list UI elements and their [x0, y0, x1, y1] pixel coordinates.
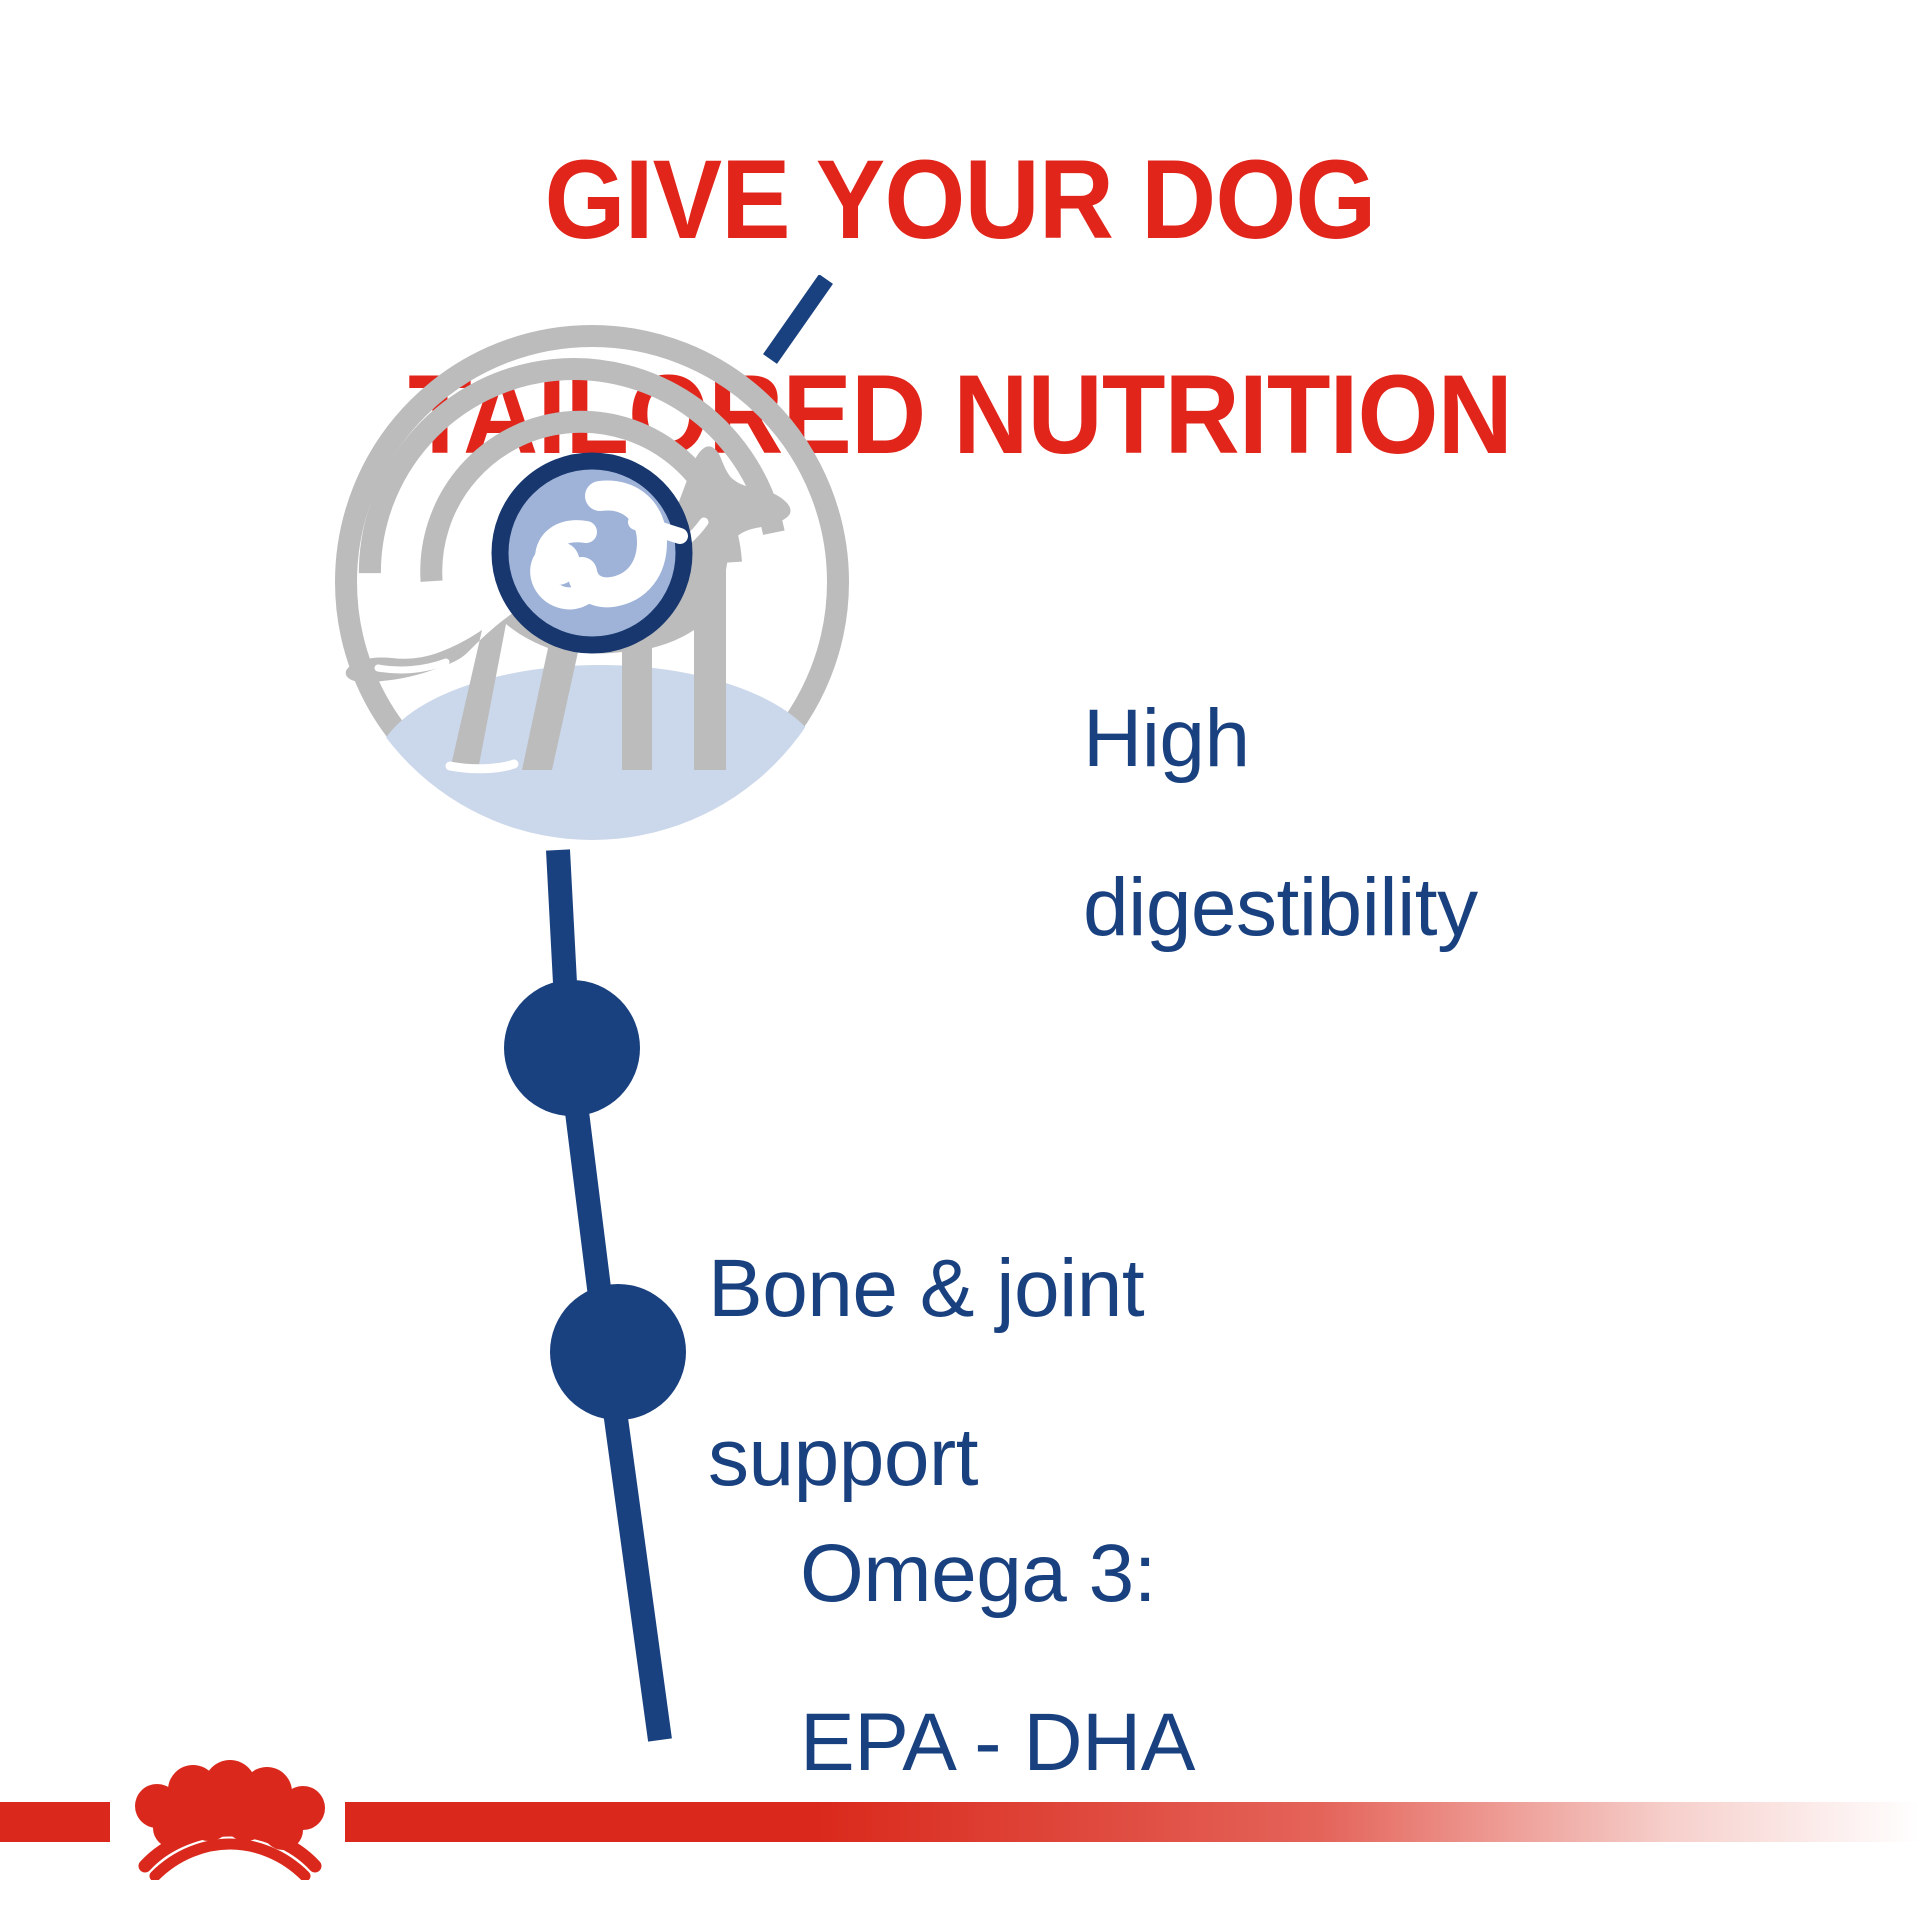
connector-dot-omega [550, 1284, 686, 1420]
feature-line-1: High [1083, 697, 1478, 781]
feature-line-2: digestibility [1083, 866, 1478, 950]
royal-canin-crown-icon [115, 1760, 340, 1880]
footer-bar-right-segment [345, 1802, 1920, 1842]
feature-line-1: Bone & joint [708, 1247, 1144, 1331]
digestibility-highlight-circle [500, 461, 684, 645]
connector-dot-bone-joint [504, 980, 640, 1116]
footer-brand-bar [0, 1740, 1920, 1920]
feature-label-high-digestibility: High digestibility [1083, 613, 1478, 1035]
feature-line-1: Omega 3: [800, 1532, 1195, 1616]
poster-canvas: GIVE YOUR DOG TAILORED NUTRITION [0, 0, 1920, 1920]
title-line-1: GIVE YOUR DOG [67, 146, 1853, 254]
dog-digestive-system-illustration [300, 300, 900, 880]
dog-paw-highlight-2 [450, 764, 514, 769]
footer-bar-left-segment [0, 1802, 110, 1842]
